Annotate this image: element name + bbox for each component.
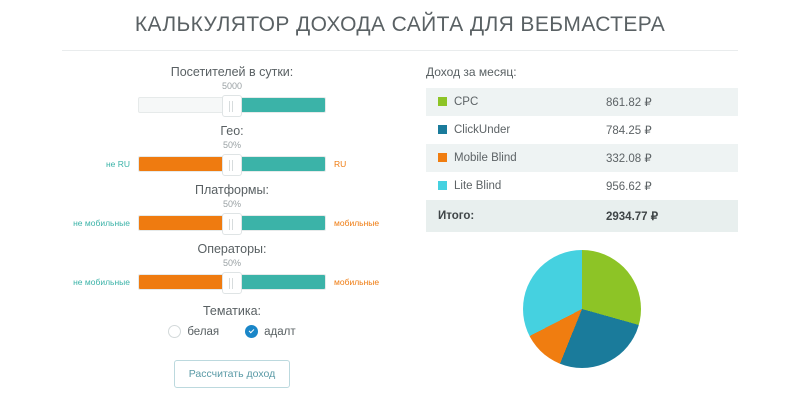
slider-operators-label: Операторы: [62, 242, 402, 256]
swatch-clickunder-icon [438, 125, 447, 134]
income-row-cpc-amount: 861.82 ₽ [594, 88, 738, 116]
slider-geo-row: не RU RU [62, 154, 402, 174]
slider-geo-left-label: не RU [62, 159, 138, 169]
radio-theme-adult[interactable]: адалт [245, 325, 295, 338]
slider-visitors-handle[interactable] [222, 95, 242, 117]
slider-platforms-right-fill [232, 216, 325, 230]
action-row: Рассчитать доход [62, 360, 402, 388]
slider-platforms-track[interactable] [138, 215, 326, 231]
table-row: CPC 861.82 ₽ [426, 88, 738, 116]
page-title: КАЛЬКУЛЯТОР ДОХОДА САЙТА ДЛЯ ВЕБМАСТЕРА [0, 12, 800, 38]
slider-operators-left-fill [139, 275, 232, 289]
theme-block: Тематика: белая адалт [62, 304, 402, 338]
slider-visitors-left-fill [139, 98, 232, 112]
swatch-cpc-icon [438, 97, 447, 106]
slider-operators-value: 50% [62, 258, 402, 269]
header-divider [62, 50, 738, 51]
slider-geo-label: Гео: [62, 124, 402, 138]
slider-operators-handle[interactable] [222, 272, 242, 294]
slider-operators-right-label: мобильные [326, 277, 402, 287]
income-pie-chart [523, 250, 641, 368]
slider-platforms-handle[interactable] [222, 213, 242, 235]
theme-label: Тематика: [62, 304, 402, 318]
slider-platforms-left-label: не мобильные [62, 218, 138, 228]
income-row-mobileblind-label: Mobile Blind [426, 144, 594, 172]
radio-theme-white[interactable]: белая [168, 325, 219, 338]
slider-platforms-value: 50% [62, 199, 402, 210]
slider-geo-track[interactable] [138, 156, 326, 172]
income-title: Доход за месяц: [426, 65, 738, 79]
income-row-liteblind-label: Lite Blind [426, 172, 594, 200]
table-row: ClickUnder 784.25 ₽ [426, 116, 738, 144]
income-row-clickunder-amount: 784.25 ₽ [594, 116, 738, 144]
slider-operators-left-label: не мобильные [62, 277, 138, 287]
radio-unchecked-icon [168, 325, 181, 338]
pie-chart-wrap [426, 250, 738, 368]
slider-operators-right-fill [232, 275, 325, 289]
slider-operators: Операторы: 50% не мобильные мобильные [62, 242, 402, 292]
content-columns: Посетителей в сутки: 5000 Гео: 50% [0, 61, 800, 388]
calculate-income-button[interactable]: Рассчитать доход [174, 360, 290, 388]
slider-operators-track[interactable] [138, 274, 326, 290]
radio-theme-adult-label: адалт [264, 326, 295, 338]
slider-geo-right-label: RU [326, 159, 402, 169]
page-header: КАЛЬКУЛЯТОР ДОХОДА САЙТА ДЛЯ ВЕБМАСТЕРА [0, 0, 800, 51]
slider-geo-right-fill [232, 157, 325, 171]
table-row: Mobile Blind 332.08 ₽ [426, 144, 738, 172]
income-table: CPC 861.82 ₽ ClickUnder 784.25 ₽ Mobile … [426, 88, 738, 232]
slider-platforms-left-fill [139, 216, 232, 230]
slider-visitors-label: Посетителей в сутки: [62, 65, 402, 79]
slider-visitors-track[interactable] [138, 97, 326, 113]
income-panel: Доход за месяц: CPC 861.82 ₽ ClickUnder … [402, 61, 738, 388]
income-total-row: Итого: 2934.77 ₽ [426, 200, 738, 232]
income-total-label: Итого: [426, 200, 594, 232]
slider-geo-handle[interactable] [222, 154, 242, 176]
calculator-page: КАЛЬКУЛЯТОР ДОХОДА САЙТА ДЛЯ ВЕБМАСТЕРА … [0, 0, 800, 405]
income-row-clickunder-label: ClickUnder [426, 116, 594, 144]
slider-platforms-right-label: мобильные [326, 218, 402, 228]
swatch-mobile-blind-icon [438, 153, 447, 162]
slider-geo: Гео: 50% не RU RU [62, 124, 402, 174]
income-row-mobileblind-amount: 332.08 ₽ [594, 144, 738, 172]
slider-visitors-right-fill [232, 98, 325, 112]
slider-visitors-value: 5000 [62, 81, 402, 92]
swatch-lite-blind-icon [438, 181, 447, 190]
slider-visitors: Посетителей в сутки: 5000 [62, 65, 402, 115]
slider-geo-value: 50% [62, 140, 402, 151]
income-row-cpc-label: CPC [426, 88, 594, 116]
radio-theme-white-label: белая [187, 326, 219, 338]
table-row: Lite Blind 956.62 ₽ [426, 172, 738, 200]
slider-platforms: Платформы: 50% не мобильные мобильные [62, 183, 402, 233]
slider-geo-left-fill [139, 157, 232, 171]
slider-operators-row: не мобильные мобильные [62, 272, 402, 292]
slider-platforms-row: не мобильные мобильные [62, 213, 402, 233]
slider-visitors-row [62, 95, 402, 115]
radio-checked-icon [245, 325, 258, 338]
theme-radio-group: белая адалт [62, 325, 402, 338]
income-row-liteblind-amount: 956.62 ₽ [594, 172, 738, 200]
slider-platforms-label: Платформы: [62, 183, 402, 197]
income-total-amount: 2934.77 ₽ [594, 200, 738, 232]
controls-panel: Посетителей в сутки: 5000 Гео: 50% [62, 61, 402, 388]
